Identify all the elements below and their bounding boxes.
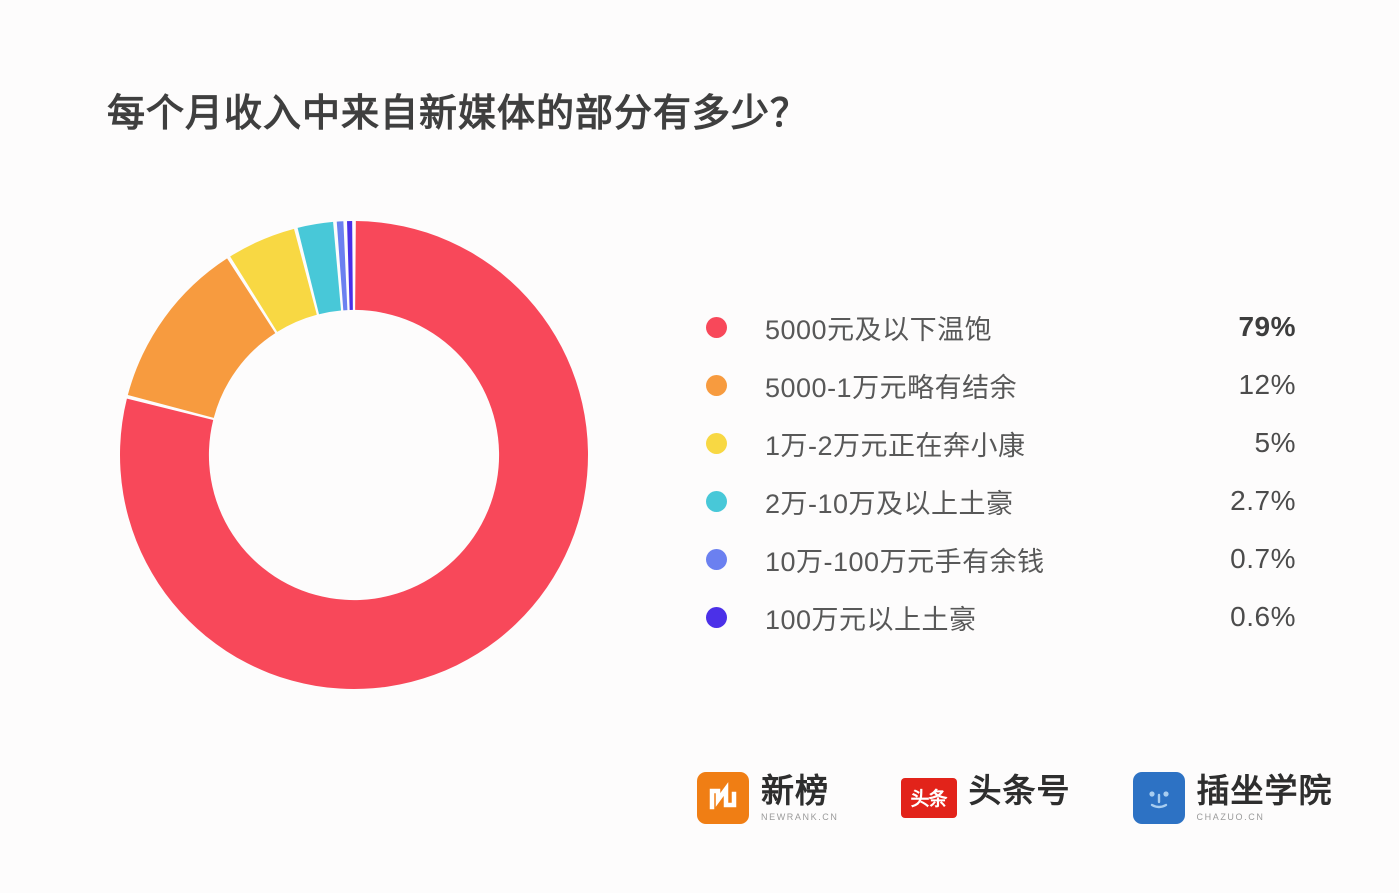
newrank-logo[interactable]: 新榜 NEWRANK.CN [697,772,839,824]
legend-item-3[interactable]: 2万-10万及以上土豪 2.7% [706,472,1306,530]
legend-value-0: 79% [1238,311,1296,343]
legend-label-1: 5000-1万元略有结余 [765,366,1017,405]
legend-label-2: 1万-2万元正在奔小康 [765,424,1026,463]
legend-item-5[interactable]: 100万元以上土豪 0.6% [706,588,1306,646]
legend-label-3: 2万-10万及以上土豪 [765,482,1014,521]
toutiao-logo-text: 头条号 . [969,774,1071,822]
chazuo-logo-text: 插坐学院 CHAZUO.CN [1197,774,1333,822]
donut-slice-5[interactable] [347,221,353,310]
chazuo-logo-sub: CHAZUO.CN [1197,812,1333,822]
legend-label-4: 10万-100万元手有余钱 [765,540,1045,579]
toutiao-logo[interactable]: 头条 头条号 . [901,774,1071,822]
donut-slice-group [120,221,588,689]
legend-item-4[interactable]: 10万-100万元手有余钱 0.7% [706,530,1306,588]
legend-swatch-icon-5 [706,607,727,628]
legend: 5000元及以下温饱 79% 5000-1万元略有结余 12% 1万-2万元正在… [706,298,1306,646]
legend-label-5: 100万元以上土豪 [765,598,977,637]
legend-item-0[interactable]: 5000元及以下温饱 79% [706,298,1306,356]
legend-value-3: 2.7% [1230,485,1296,517]
legend-value-4: 0.7% [1230,543,1296,575]
legend-label-0: 5000元及以下温饱 [765,308,992,347]
toutiao-logo-name: 头条号 [969,774,1071,809]
legend-item-1[interactable]: 5000-1万元略有结余 12% [706,356,1306,414]
legend-value-5: 0.6% [1230,601,1296,633]
legend-swatch-icon-2 [706,433,727,454]
chazuo-logo[interactable]: 插坐学院 CHAZUO.CN [1133,772,1333,824]
donut-chart [119,220,589,690]
newrank-logo-text: 新榜 NEWRANK.CN [761,774,839,822]
chazuo-logo-name: 插坐学院 [1197,774,1333,809]
page-title: 每个月收入中来自新媒体的部分有多少？ [107,82,809,137]
legend-swatch-icon-3 [706,491,727,512]
legend-item-2[interactable]: 1万-2万元正在奔小康 5% [706,414,1306,472]
donut-chart-svg [119,220,589,690]
legend-swatch-icon-4 [706,549,727,570]
toutiao-logo-mark-icon: 头条 [901,778,957,818]
footer-logo-bar: 新榜 NEWRANK.CN 头条 头条号 . 插坐学院 [697,772,1333,824]
legend-swatch-icon-1 [706,375,727,396]
slide-canvas: 每个月收入中来自新媒体的部分有多少？ 5000元及以下温饱 79% 5000-1… [0,0,1399,893]
newrank-logo-mark-icon [697,772,749,824]
legend-value-2: 5% [1255,427,1296,459]
newrank-logo-name: 新榜 [761,774,839,809]
legend-value-1: 12% [1238,369,1296,401]
chazuo-logo-mark-icon [1133,772,1185,824]
newrank-logo-sub: NEWRANK.CN [761,812,839,822]
legend-swatch-icon-0 [706,317,727,338]
